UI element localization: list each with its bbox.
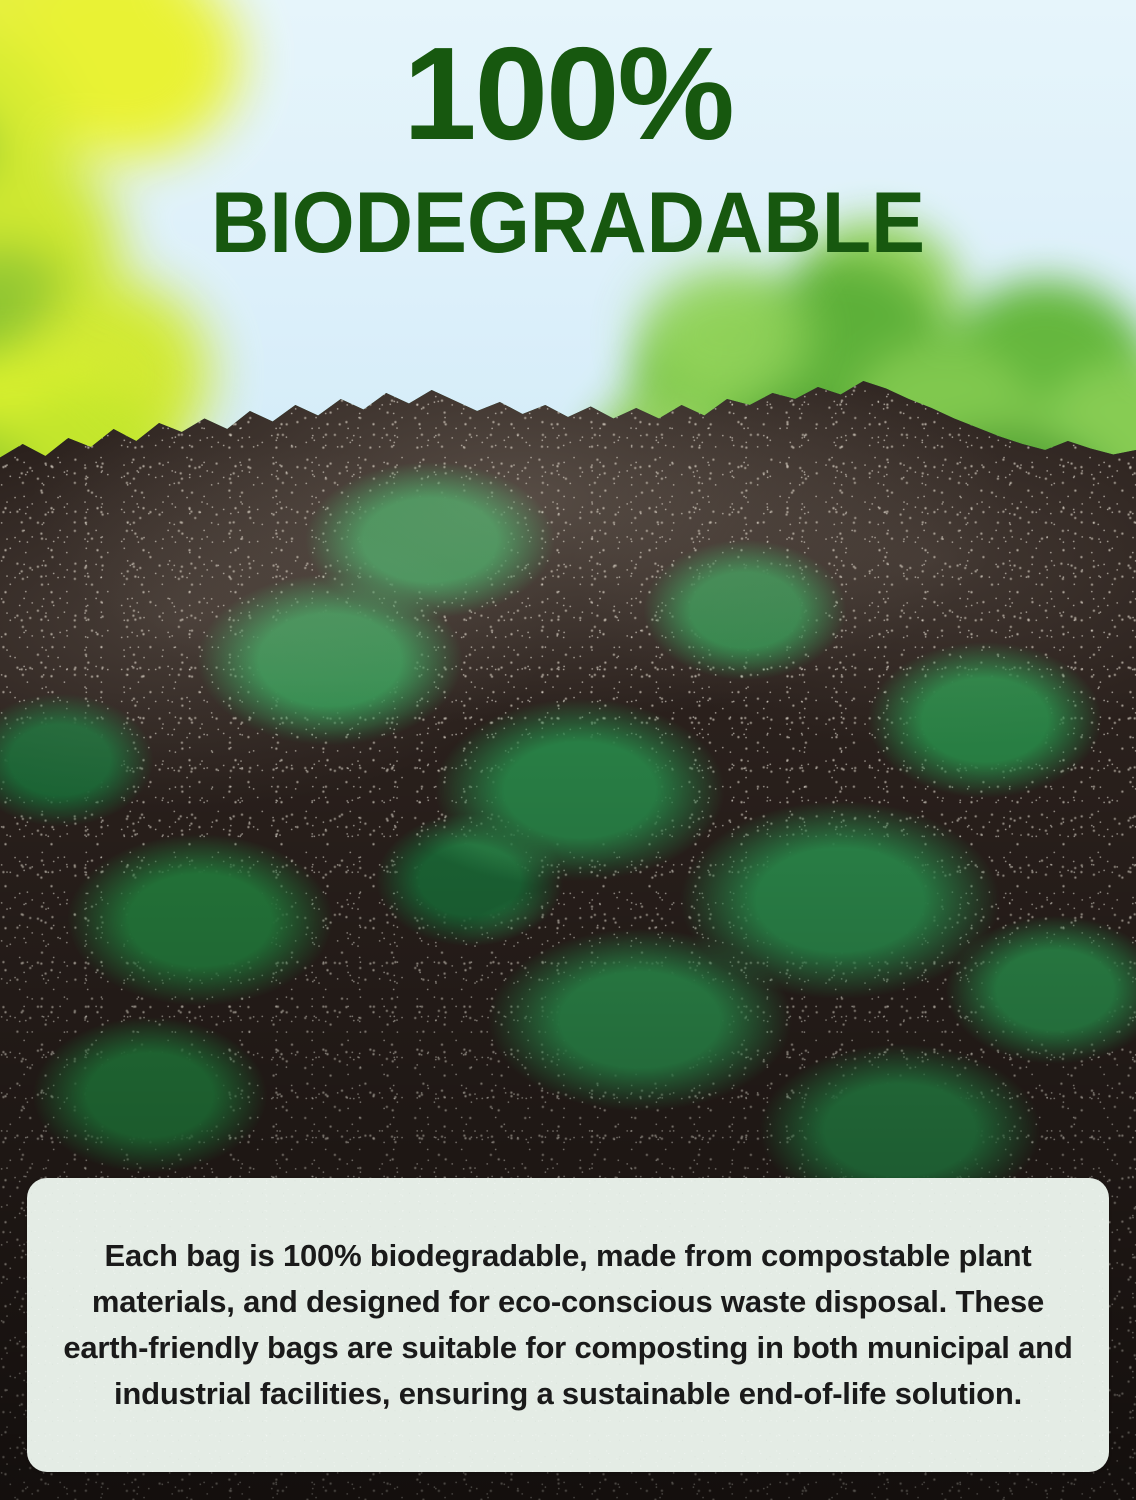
description-card: Each bag is 100% biodegradable, made fro… — [27, 1178, 1109, 1472]
description-text: Each bag is 100% biodegradable, made fro… — [63, 1233, 1073, 1417]
poster-root: 100% BIODEGRADABLE Each bag is 100% biod… — [0, 0, 1136, 1500]
